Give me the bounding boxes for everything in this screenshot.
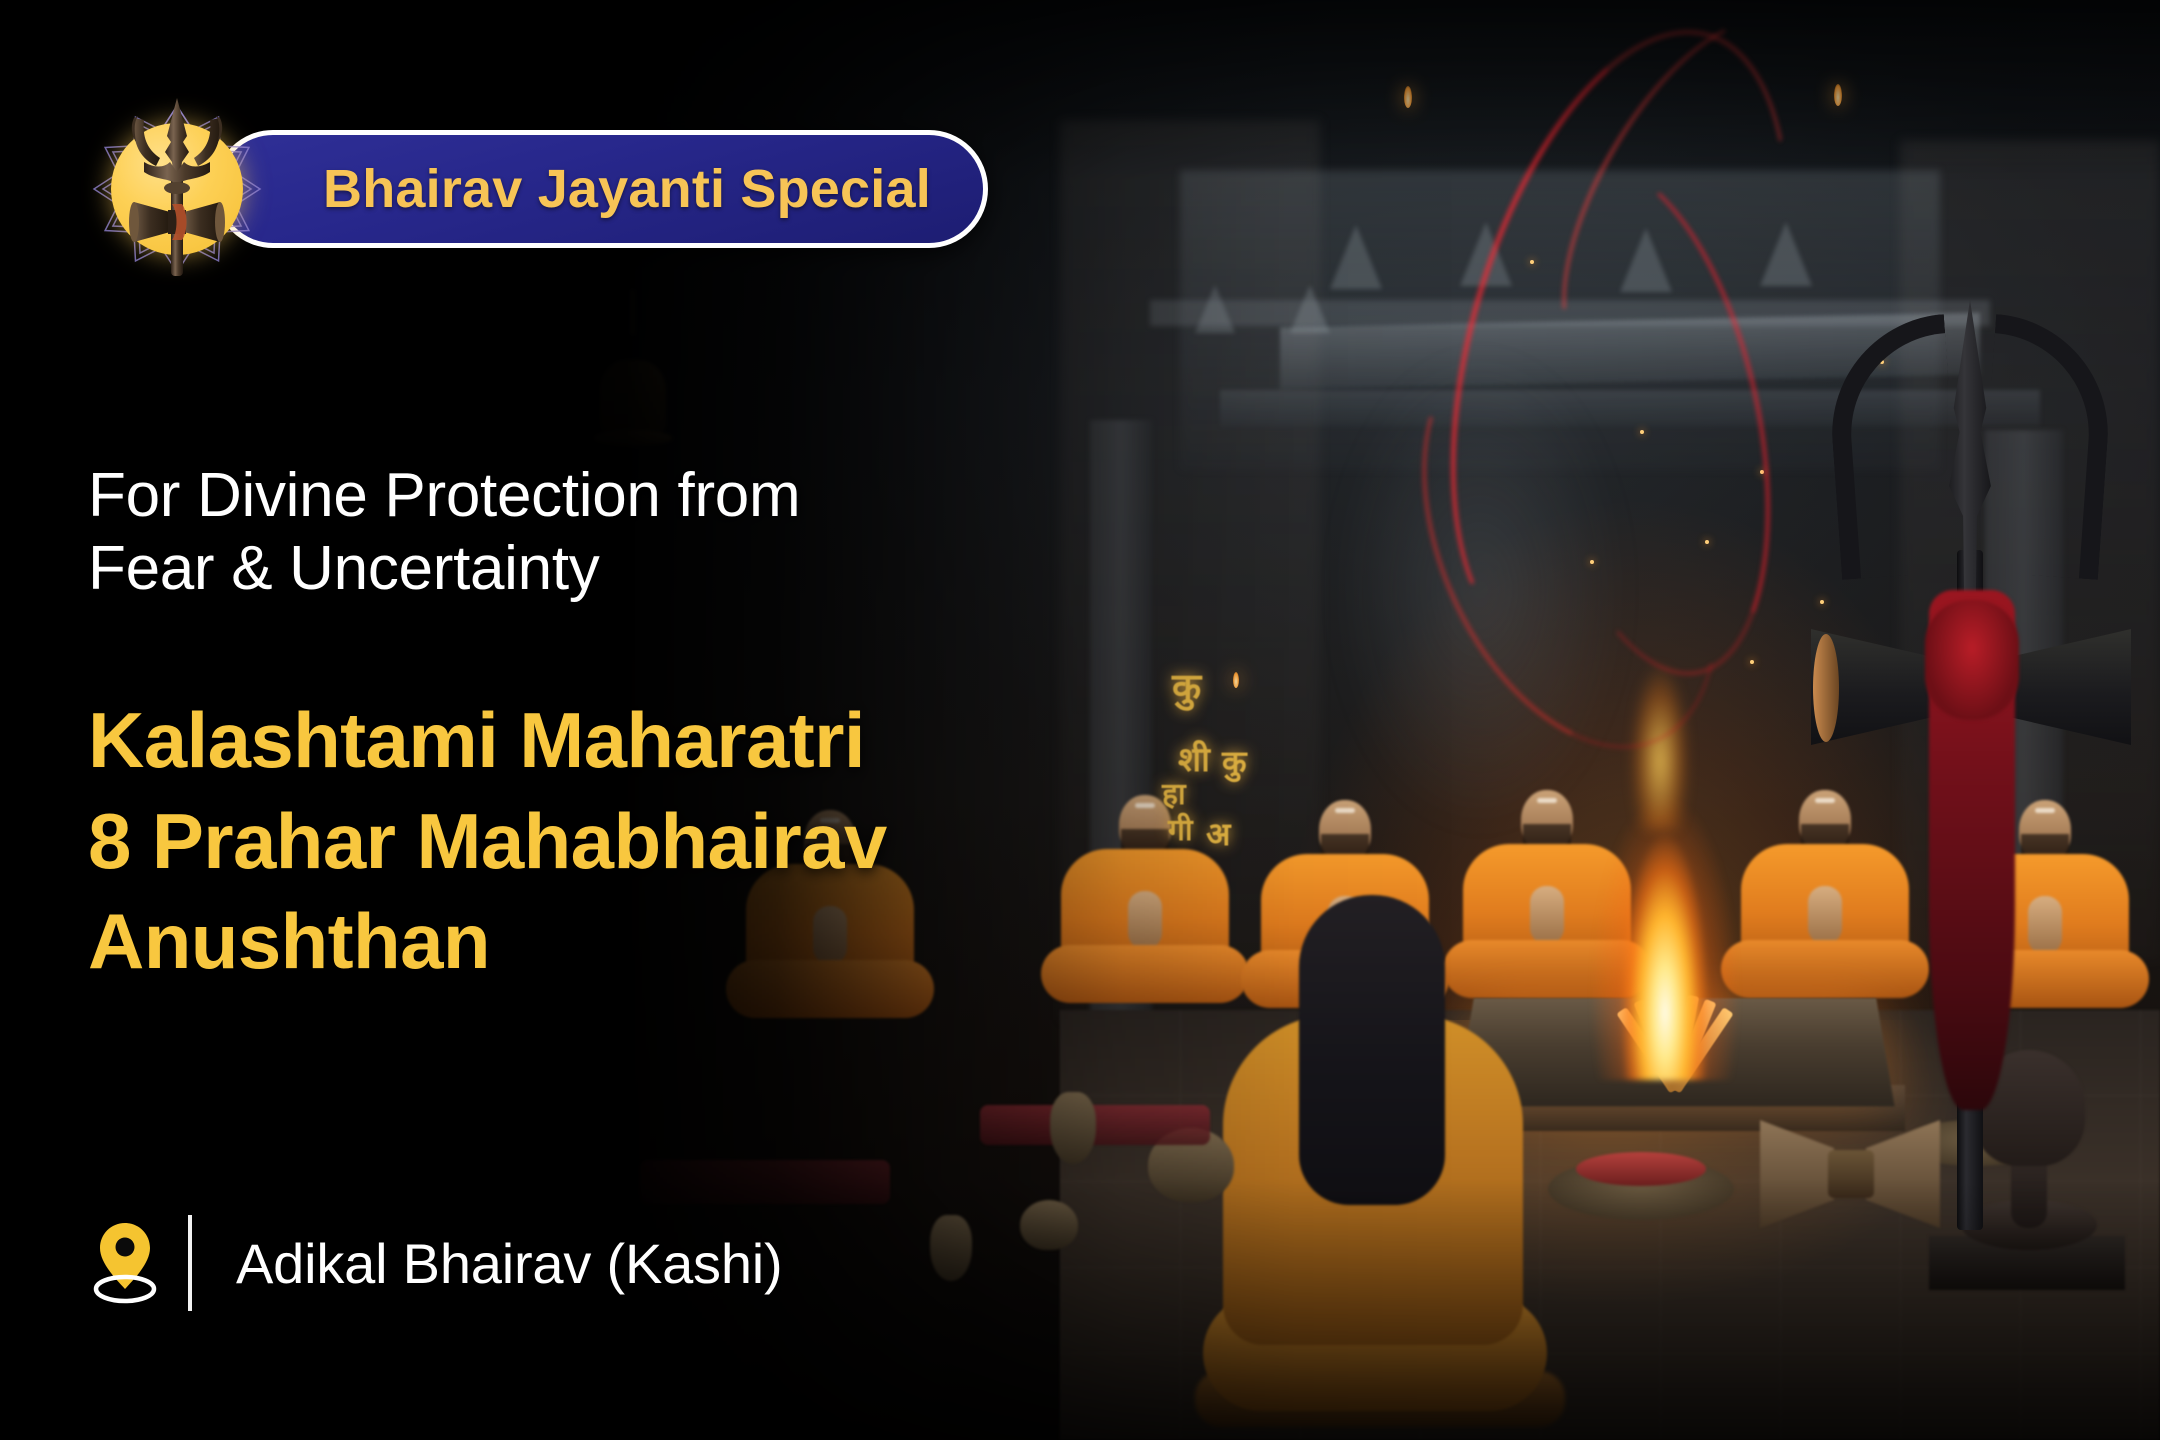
promo-poster: कु शी कु हा गी अ [0, 0, 2160, 1440]
badge-pill[interactable]: Bhairav Jayanti Special [214, 130, 988, 248]
brand-logo [88, 100, 266, 278]
headline: Kalashtami Maharatri 8 Prahar Mahabhaira… [88, 690, 1188, 992]
headline-line-1: Kalashtami Maharatri [88, 690, 1188, 791]
location-name: Adikal Bhairav (Kashi) [236, 1231, 783, 1296]
map-pin-icon [88, 1219, 162, 1307]
subtitle-line-1: For Divine Protection from [88, 460, 1088, 533]
headline-line-3: Anushthan [88, 891, 1188, 992]
subtitle: For Divine Protection from Fear & Uncert… [88, 460, 1088, 605]
subtitle-line-2: Fear & Uncertainty [88, 533, 1088, 606]
trishul-damru-icon [92, 92, 262, 278]
badge-label: Bhairav Jayanti Special [323, 158, 931, 220]
location-divider [188, 1215, 192, 1311]
location-row: Adikal Bhairav (Kashi) [88, 1215, 783, 1311]
headline-line-2: 8 Prahar Mahabhairav [88, 791, 1188, 892]
poster-content: Bhairav Jayanti Special For Divine Prote… [0, 0, 2160, 1440]
badge-row: Bhairav Jayanti Special [88, 100, 988, 278]
